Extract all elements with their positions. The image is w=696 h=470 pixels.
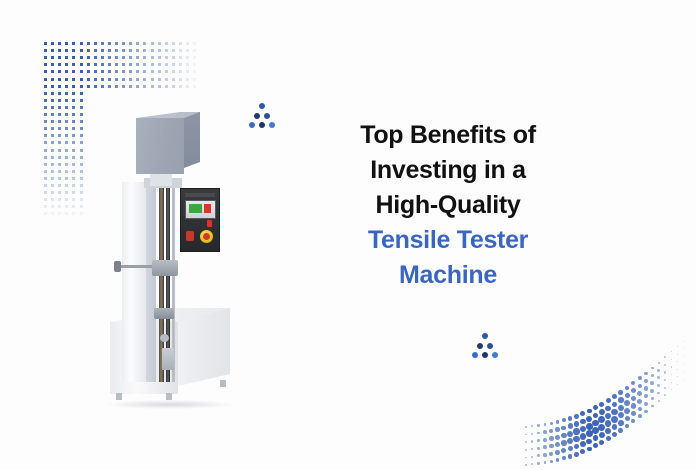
headline-line-3: High-Quality (332, 188, 564, 223)
headline-line-5: Machine (332, 258, 564, 293)
crosshead-neck (150, 172, 172, 186)
headline-line-2: Investing in a (332, 153, 564, 188)
base-bracket (162, 348, 174, 370)
page-title: Top Benefits of Investing in a High-Qual… (332, 118, 564, 293)
control-panel[interactable] (180, 188, 220, 252)
machine-shadow (106, 400, 234, 409)
halftone-wave-pattern (520, 345, 696, 465)
head-unit-front (136, 118, 184, 174)
machine-foot (116, 393, 122, 400)
base-knob (160, 334, 169, 342)
specimen-grip-upper (152, 260, 178, 276)
machine-foot (220, 380, 226, 387)
column-front (122, 182, 146, 382)
grip-arm (118, 265, 156, 268)
panel-display (185, 200, 216, 219)
emergency-stop-button[interactable] (200, 230, 213, 243)
grip-knob (114, 261, 121, 272)
triangle-dot-cluster-bottom (472, 333, 506, 363)
panel-label-strip (185, 193, 215, 197)
panel-indicator-light[interactable] (207, 220, 212, 227)
head-unit-side (184, 112, 200, 168)
specimen-grip-lower (154, 308, 174, 319)
panel-red-button[interactable] (186, 231, 194, 241)
display-red-field (204, 204, 211, 213)
tensile-tester-machine (100, 112, 240, 412)
headline-line-4: Tensile Tester (332, 223, 564, 258)
machine-foot (166, 393, 172, 400)
headline-line-1: Top Benefits of (332, 118, 564, 153)
column-side (146, 182, 156, 382)
display-green-field (189, 204, 202, 213)
triangle-dot-cluster-top (249, 103, 283, 133)
banner-canvas: Top Benefits of Investing in a High-Qual… (0, 0, 696, 470)
